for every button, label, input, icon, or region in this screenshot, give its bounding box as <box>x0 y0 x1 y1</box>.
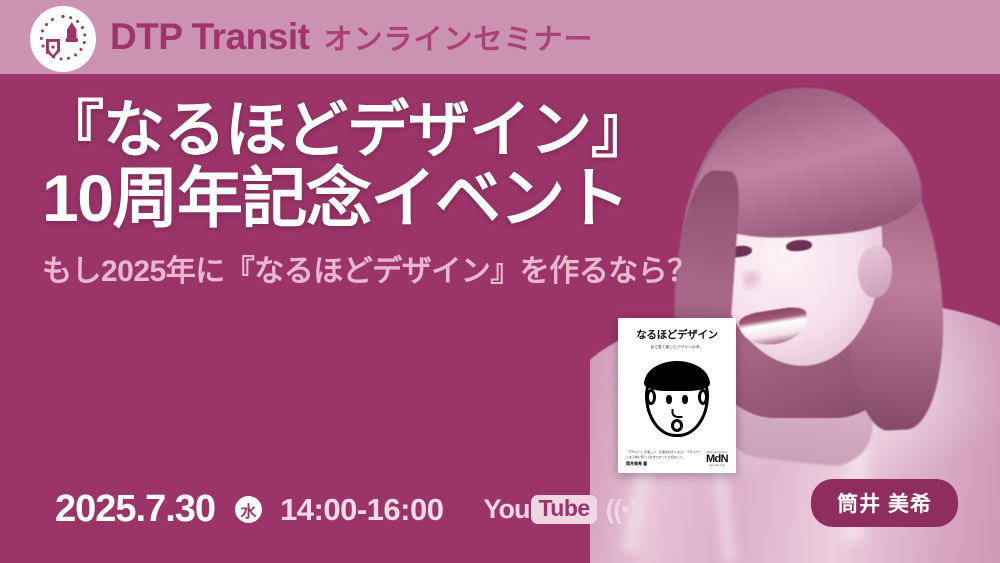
speaker-name-badge: 筒井 美希 <box>811 479 958 527</box>
book-footer: 「デザイン」が楽しい、仕事が好きになる！ デザイナーになる前に知っておきたかった… <box>626 450 728 467</box>
youtube-tube-text: Tube <box>531 495 596 524</box>
title-line-1: 『なるほどデザイン』 <box>42 98 697 164</box>
pen-nib-clock-icon <box>30 6 96 72</box>
youtube-live-logo[interactable]: You Tube ((•)) <box>483 494 644 525</box>
face-nose <box>672 409 683 418</box>
speaker-ear <box>858 246 892 298</box>
face-ear-left <box>646 389 656 405</box>
title-block: 『なるほどデザイン』 10周年記念イベント もし2025年に『なるほどデザイン』… <box>42 98 697 290</box>
dtp-transit-logo <box>30 6 96 72</box>
book-face-illustration <box>626 355 728 450</box>
youtube-you-text: You <box>483 494 529 525</box>
live-broadcast-icon: ((•)) <box>606 494 645 525</box>
header-title: DTP Transit オンラインセミナー <box>110 16 593 58</box>
event-date: 2025.7.30 <box>55 488 215 531</box>
face-eye-right <box>682 395 688 404</box>
youtube-logo: You Tube <box>483 494 596 525</box>
book-cover: なるほどデザイン 目で見て楽しむデザインの本。 「デザイン」が楽しい、仕事が好き… <box>618 318 736 473</box>
event-subtitle: もし2025年に『なるほどデザイン』を作るなら？ <box>42 246 697 290</box>
face-hair <box>644 361 710 391</box>
mdn-publisher-logo: MdN Corporation MdN www.mdn.co.jp <box>706 451 728 467</box>
face-eye-left <box>666 395 672 404</box>
speaker-nose <box>742 270 764 292</box>
face-mouth <box>671 419 683 432</box>
book-blurb: 「デザイン」が楽しい、仕事が好きになる！ デザイナーになる前に知っておきたかった… <box>626 450 702 459</box>
brand-name-en: DTP Transit <box>110 16 309 58</box>
brand-name-jp: オンラインセミナー <box>323 16 593 58</box>
mdn-bottom-text: www.mdn.co.jp <box>706 465 728 467</box>
header-content: DTP Transit オンラインセミナー <box>0 0 593 74</box>
mdn-mark: MdN <box>706 454 728 465</box>
book-title: なるほどデザイン <box>626 327 728 342</box>
day-of-week-badge: 水 <box>235 496 262 523</box>
seminar-banner: DTP Transit オンラインセミナー 『なるほどデザイン』 10周年記念イ… <box>0 0 1000 563</box>
title-line-2: 10周年記念イベント <box>42 164 697 234</box>
event-info-bar: 2025.7.30 水 14:00-16:00 You Tube ((•)) <box>55 488 644 531</box>
book-tagline: 目で見て楽しむデザインの本。 <box>626 345 728 350</box>
event-time: 14:00-16:00 <box>280 492 443 528</box>
face-ear-right <box>698 389 708 405</box>
book-author: 筒井美希 著 <box>626 461 702 467</box>
